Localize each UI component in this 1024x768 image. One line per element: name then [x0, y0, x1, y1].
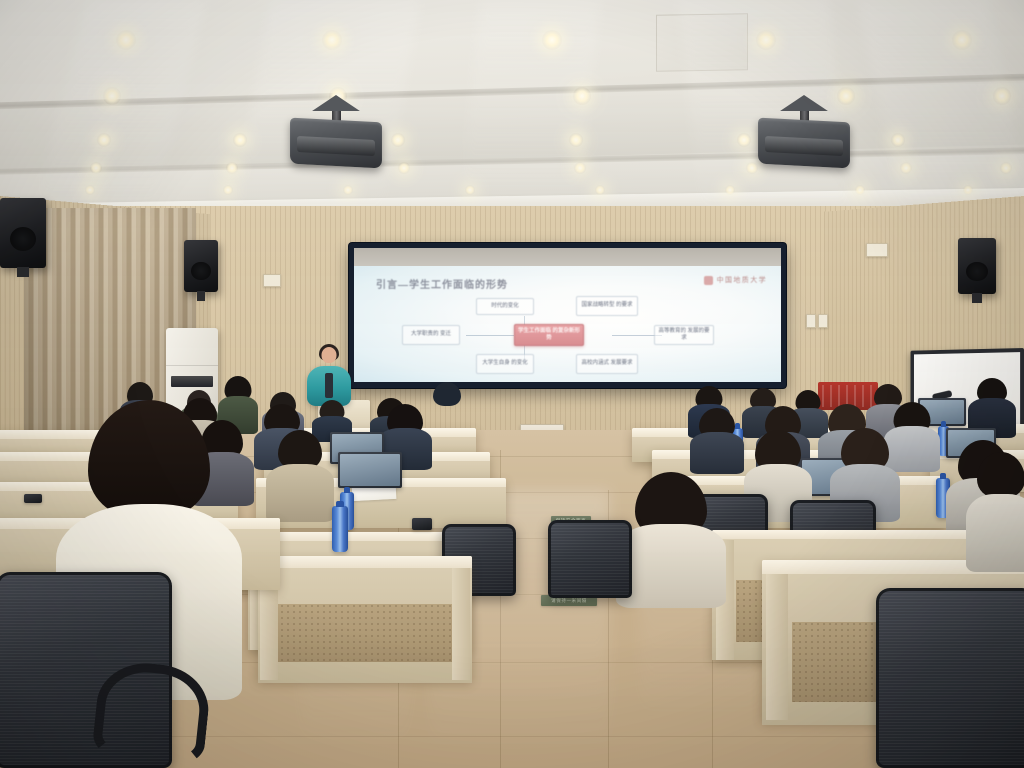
chair-front-right[interactable]	[876, 588, 1024, 768]
downlight	[569, 133, 583, 147]
downlight	[90, 162, 102, 174]
slide-box-top-left: 时代的变化	[476, 298, 534, 315]
projector-left	[290, 104, 382, 166]
downlight	[746, 162, 758, 174]
slide-box-right: 高等教育的 发展的要求	[654, 325, 714, 345]
projector-right	[758, 104, 850, 166]
slide-box-top-right: 国家战略转型 的要求	[576, 296, 638, 316]
slide-title: 引言—学生工作面临的形势	[376, 276, 508, 291]
downlight	[737, 133, 751, 147]
speaker-right	[958, 238, 996, 294]
university-logo-icon	[704, 276, 713, 285]
wall-control-panel[interactable]	[263, 274, 281, 287]
bottle-r4-center[interactable]	[332, 506, 348, 552]
presenter	[306, 344, 352, 406]
downlight	[574, 162, 586, 174]
projection-screen: 引言—学生工作面临的形势 中国地质大学 时代的变化 国家战略转型 的要求 大学职…	[349, 243, 786, 388]
wall-switch-second[interactable]	[818, 314, 828, 328]
downlight	[573, 87, 591, 105]
downlight	[963, 185, 973, 195]
downlight	[595, 185, 605, 195]
slide-box-bottom-right: 高校内涵式 发展要求	[576, 354, 638, 374]
conference-room-photo: 引言—学生工作面临的形势 中国地质大学 时代的变化 国家战略转型 的要求 大学职…	[0, 0, 1024, 768]
downlight	[900, 162, 912, 174]
downlight	[542, 30, 562, 50]
desk-row5-front	[258, 556, 472, 680]
downlight	[952, 30, 972, 50]
downlight	[391, 133, 405, 147]
slide-logo-text: 中国地质大学	[717, 275, 767, 285]
downlight	[465, 185, 475, 195]
ceiling	[0, 0, 1024, 232]
downlight	[97, 133, 111, 147]
downlight	[103, 87, 121, 105]
smartphone-r4-left[interactable]	[24, 494, 42, 503]
downlight	[756, 30, 776, 50]
chair-r4-right[interactable]	[548, 520, 632, 598]
downlight	[891, 133, 905, 147]
slide-diagram: 时代的变化 国家战略转型 的要求 大学职责的 变迁 学生工作面临 的复杂新形势 …	[354, 292, 781, 378]
wall-switch[interactable]	[806, 314, 816, 328]
slide-box-left: 大学职责的 变迁	[402, 325, 460, 345]
attendee-cream-hoodie	[616, 472, 726, 608]
attendee-r3-2	[266, 430, 334, 522]
speaker-left-rear	[0, 198, 46, 268]
downlight	[855, 185, 865, 195]
laptop-r3-center[interactable]	[338, 452, 402, 488]
speaker-left-front	[184, 240, 218, 292]
ceiling-access-panel	[656, 13, 748, 72]
downlight	[837, 87, 855, 105]
downlight	[85, 185, 95, 195]
downlight	[226, 162, 238, 174]
downlight	[322, 30, 342, 50]
downlight	[993, 87, 1011, 105]
attendee-front-right	[966, 452, 1024, 572]
downlight	[223, 185, 233, 195]
wall-clock-plate	[866, 243, 888, 257]
smartphone-r4-right[interactable]	[412, 518, 432, 530]
downlight	[725, 185, 735, 195]
attendee-r2-4	[690, 408, 744, 474]
slide-box-center: 学生工作面临 的复杂新形势	[514, 324, 584, 346]
downlight	[116, 30, 136, 50]
downlight	[343, 185, 353, 195]
slide-canvas: 引言—学生工作面临的形势 中国地质大学 时代的变化 国家战略转型 的要求 大学职…	[354, 266, 781, 382]
downlight	[398, 162, 410, 174]
slide-box-bottom-left: 大学生自身 的变化	[476, 354, 534, 374]
slide-logo: 中国地质大学	[704, 275, 767, 285]
downlight	[233, 133, 247, 147]
downlight	[1000, 162, 1012, 174]
